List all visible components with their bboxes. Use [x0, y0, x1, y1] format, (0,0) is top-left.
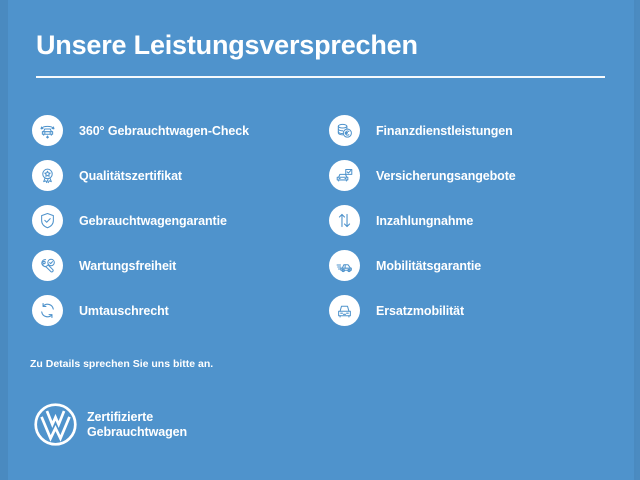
benefit-item-warranty: Gebrauchtwagengarantie	[32, 205, 249, 236]
benefits-column-left: 360° Gebrauchtwagen-Check Qualitätszerti…	[32, 115, 249, 340]
car-mobility-icon	[329, 250, 360, 281]
benefit-label: Ersatzmobilität	[376, 304, 464, 318]
benefit-item-maintenance-free: Wartungsfreiheit	[32, 250, 249, 281]
benefit-label: Finanzdienstleistungen	[376, 124, 513, 138]
benefit-label: Wartungsfreiheit	[79, 259, 176, 273]
left-edge-band	[0, 0, 8, 480]
brand-text-line1: Zertifizierte	[87, 410, 187, 425]
footer-note: Zu Details sprechen Sie uns bitte an.	[30, 358, 213, 370]
benefit-item-trade-in: Inzahlungnahme	[329, 205, 516, 236]
brand-text: Zertifizierte Gebrauchtwagen	[87, 410, 187, 440]
promo-poster: Unsere Leistungsversprechen 360° Gebrauc…	[0, 0, 640, 480]
benefits-column-right: Finanzdienstleistungen Versicherungsange…	[329, 115, 516, 340]
exchange-arrows-icon	[32, 295, 63, 326]
title-divider	[36, 76, 605, 78]
car-360-check-icon	[32, 115, 63, 146]
benefit-item-financial-services: Finanzdienstleistungen	[329, 115, 516, 146]
up-down-arrows-icon	[329, 205, 360, 236]
benefit-label: 360° Gebrauchtwagen-Check	[79, 124, 249, 138]
vw-logo-icon	[33, 402, 78, 447]
benefit-item-360-check: 360° Gebrauchtwagen-Check	[32, 115, 249, 146]
brand-lockup: Zertifizierte Gebrauchtwagen	[33, 402, 187, 447]
benefit-label: Inzahlungnahme	[376, 214, 473, 228]
car-front-icon	[329, 295, 360, 326]
right-edge-band	[634, 0, 640, 480]
coins-euro-icon	[329, 115, 360, 146]
shield-check-icon	[32, 205, 63, 236]
benefit-item-exchange-right: Umtauschrecht	[32, 295, 249, 326]
benefit-label: Gebrauchtwagengarantie	[79, 214, 227, 228]
quality-rosette-icon	[32, 160, 63, 191]
benefit-item-quality-certificate: Qualitätszertifikat	[32, 160, 249, 191]
brand-text-line2: Gebrauchtwagen	[87, 425, 187, 440]
car-insurance-icon	[329, 160, 360, 191]
benefit-item-replacement-mobility: Ersatzmobilität	[329, 295, 516, 326]
benefit-item-insurance-offers: Versicherungsangebote	[329, 160, 516, 191]
benefit-label: Qualitätszertifikat	[79, 169, 182, 183]
benefit-label: Versicherungsangebote	[376, 169, 516, 183]
benefit-label: Umtauschrecht	[79, 304, 169, 318]
wrench-check-icon	[32, 250, 63, 281]
benefit-label: Mobilitätsgarantie	[376, 259, 481, 273]
benefit-item-mobility-guarantee: Mobilitätsgarantie	[329, 250, 516, 281]
page-title: Unsere Leistungsversprechen	[36, 30, 418, 61]
